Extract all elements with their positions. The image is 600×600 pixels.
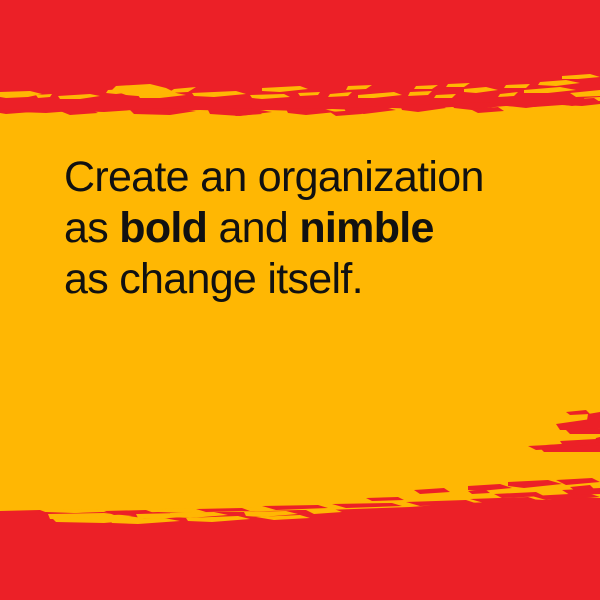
quote-line-3: as change itself. [64, 254, 564, 305]
quote-block: Create an organization as bold and nimbl… [64, 152, 564, 305]
quote-line-3-text: as change itself. [64, 255, 363, 303]
slide-canvas: Create an organization as bold and nimbl… [0, 0, 600, 600]
quote-emphasis-nimble: nimble [299, 204, 433, 252]
quote-line-1-text: Create an organization [64, 153, 484, 201]
quote-line-2-middle: and [207, 204, 299, 252]
quote-emphasis-bold: bold [119, 204, 207, 252]
quote-line-1: Create an organization [64, 152, 564, 203]
quote-line-2-prefix: as [64, 204, 119, 252]
quote-line-2: as bold and nimble [64, 203, 564, 254]
